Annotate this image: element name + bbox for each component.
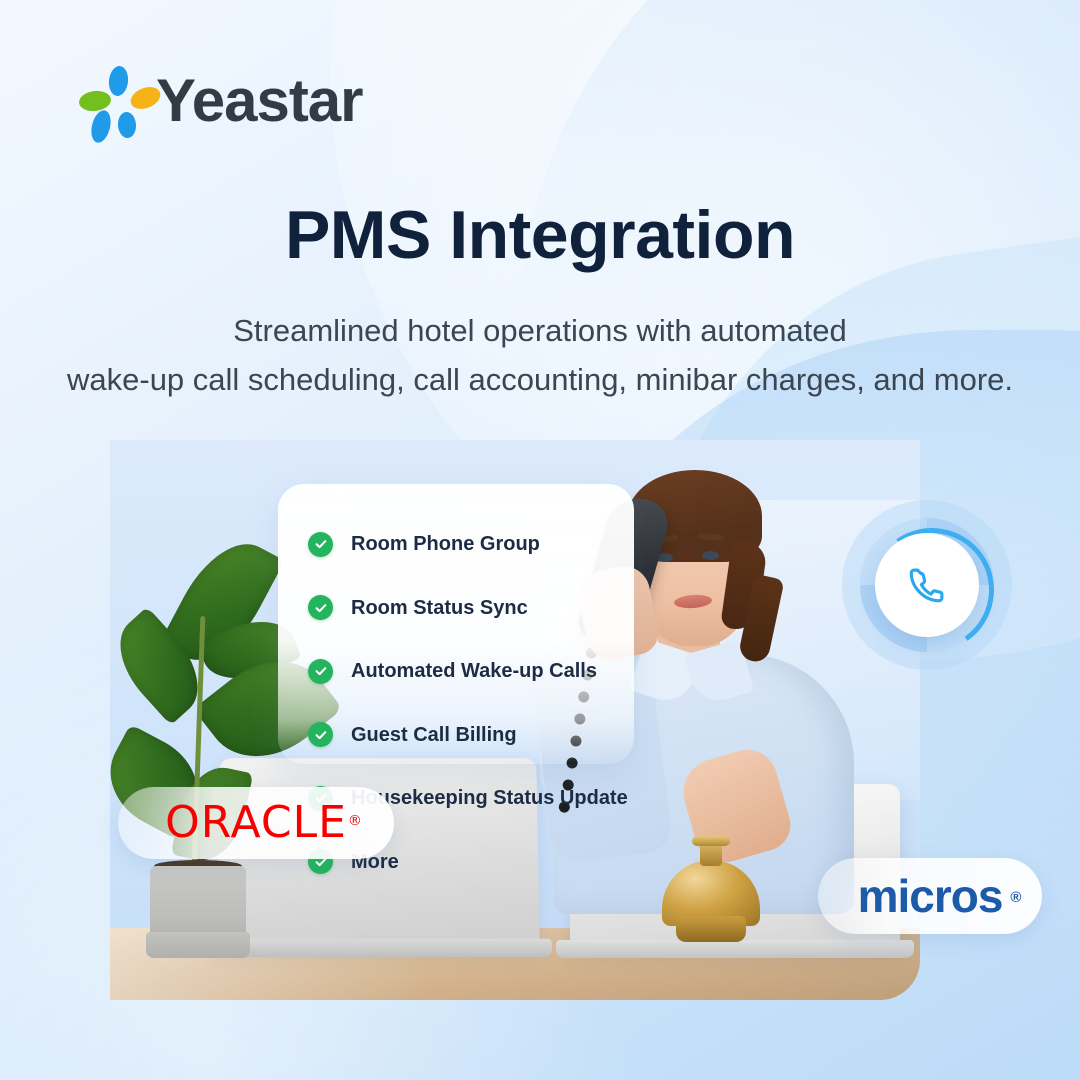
- oracle-logo-icon: ORACLE ®: [165, 801, 347, 845]
- check-circle-icon: [308, 595, 333, 620]
- list-gap: [308, 560, 728, 592]
- petal-blue-top-icon: [107, 65, 129, 97]
- list-item: Room Phone Group: [308, 528, 728, 560]
- brand-wordmark: Yeastar: [156, 64, 363, 138]
- phone-badge: [842, 500, 1012, 670]
- subtitle-line-2: wake-up call scheduling, call accounting…: [0, 355, 1080, 404]
- check-circle-icon: [308, 659, 333, 684]
- list-item-label: Housekeeping Status Update: [351, 786, 628, 810]
- list-item-label: Room Status Sync: [351, 596, 528, 620]
- phone-icon-circle: [875, 533, 979, 637]
- phone-handset-icon: [906, 564, 948, 606]
- list-gap: [308, 751, 728, 783]
- plant-pot-base: [146, 932, 250, 958]
- oracle-logo-text: ORACLE: [165, 797, 347, 848]
- list-gap: [308, 624, 728, 656]
- micros-logo-icon: micros ®: [858, 873, 1003, 919]
- promo-banner: Yeastar PMS Integration Streamlined hote…: [0, 0, 1080, 1080]
- list-item: Room Status Sync: [308, 592, 728, 624]
- yeastar-petal-mark-icon: [78, 66, 148, 136]
- petal-blue-center-icon: [117, 111, 137, 138]
- subtitle-line-1: Streamlined hotel operations with automa…: [0, 306, 1080, 355]
- list-gap: [308, 687, 728, 719]
- check-circle-icon: [308, 532, 333, 557]
- bell-base: [676, 916, 746, 942]
- list-item: Guest Call Billing: [308, 719, 728, 751]
- page-title: PMS Integration: [0, 196, 1080, 274]
- check-circle-icon: [308, 722, 333, 747]
- brand-logo[interactable]: Yeastar: [78, 62, 338, 140]
- list-item-label: Room Phone Group: [351, 532, 540, 556]
- page-subtitle: Streamlined hotel operations with automa…: [0, 306, 1080, 404]
- petal-blue-lower-icon: [88, 108, 113, 144]
- list-item-label: Guest Call Billing: [351, 723, 517, 747]
- micros-trademark: ®: [1010, 875, 1020, 921]
- petal-green-icon: [78, 89, 112, 113]
- list-item-label: Automated Wake-up Calls: [351, 659, 597, 683]
- partner-badge-micros[interactable]: micros ®: [818, 858, 1042, 934]
- oracle-trademark: ®: [348, 799, 363, 843]
- partner-badge-oracle[interactable]: ORACLE ®: [118, 787, 394, 859]
- list-item: Automated Wake-up Calls: [308, 655, 728, 687]
- micros-logo-text: micros: [858, 870, 1003, 922]
